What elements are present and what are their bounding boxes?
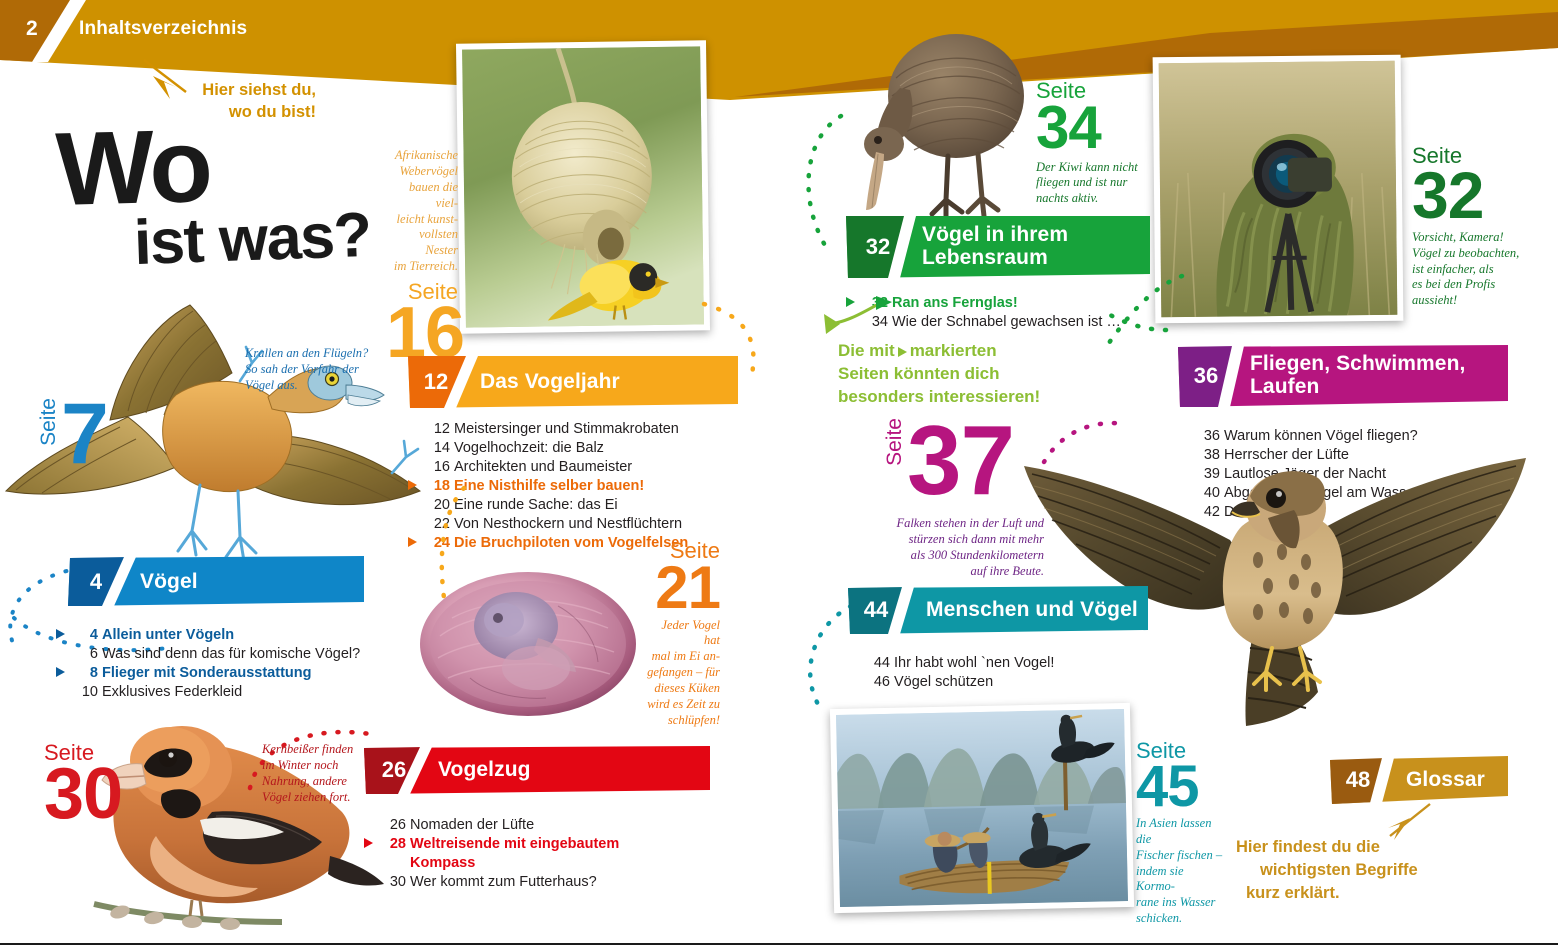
section-banner[interactable]: 36 Fliegen, Schwimmen, Laufen [1178,345,1508,407]
toc-text: Weltreisende mit eingebautem Kompass [410,836,619,871]
page-title: Wo ist was? [56,126,371,268]
toc-item-highlighted[interactable]: 32Ran ans Fernglas! [846,294,1150,313]
caption-text: Kernbeißer finden im Winter noch Nahrung… [262,742,370,806]
toc-item[interactable]: 36Warum können Vögel fliegen? [1178,427,1508,446]
section-title: Das Vogeljahr [480,356,620,408]
toc-item[interactable]: 22Von Nesthockern und Nestflüchtern [408,515,738,534]
caption-text: Krallen an den Flügeln? So sah der Vorfa… [245,346,390,394]
photo-embryo-egg [418,566,638,721]
toc-page: 26 [382,816,406,835]
toc-item[interactable]: 12Meistersinger und Stimmakrobaten [408,420,738,439]
caption-text: In Asien lassen die Fischer fischen – in… [1136,816,1224,927]
toc-item-highlighted[interactable]: 4Allein unter Vögeln [56,626,364,645]
section-title: Menschen und Vögel [926,586,1138,634]
photographer-artwork [1159,61,1398,317]
toc-item[interactable]: 10Exklusives Federkleid [56,683,364,702]
legend-line-1: Die mitmarkierten [838,340,1068,363]
toc-item[interactable]: 26Nomaden der Lüfte [364,816,710,835]
toc-page: 14 [426,439,450,458]
weaver-nest-artwork [462,46,704,327]
triangle-marker-icon [408,537,417,547]
toc-item[interactable]: 44Ihr habt wohl `nen Vogel! [848,654,1148,673]
toc-text: Was sind denn das für komische Vögel? [102,646,360,662]
toc-text: Wer kommt zum Futterhaus? [410,874,597,890]
toc-item[interactable]: 16Architekten und Baumeister [408,458,738,477]
section-menschen[interactable]: 44 Menschen und Vögel 44Ihr habt wohl `n… [848,586,1148,692]
toc-page: 32 [864,294,888,313]
toc-page: 12 [426,420,450,439]
section-number: 32 [850,216,906,278]
page-marker-seite-16: Afrikanische Webervögel bauen die viel- … [386,148,458,365]
toc-text: Vögel schützen [894,674,993,690]
toc-text: Meistersinger und Stimmakrobaten [454,421,679,437]
toc-text: Architekten und Baumeister [454,459,632,475]
toc-text: Eine Nisthilfe selber bauen! [454,478,644,494]
toc-item[interactable]: 34Wie der Schnabel gewachsen ist … [846,313,1150,332]
page-marker-seite-34: Seite 34 Der Kiwi kann nicht fliegen und… [1036,80,1154,207]
triangle-marker-icon [364,838,373,848]
toc-text: Flieger mit Sonderausstattung [102,665,311,681]
toc-page: 18 [426,477,450,496]
toc-text: Nomaden der Lüfte [410,817,534,833]
caption-text: Der Kiwi kann nicht fliegen und ist nur … [1036,160,1154,208]
section-glossar[interactable]: 48 Glossar [1330,756,1508,804]
section-vogeljahr[interactable]: 12 Das Vogeljahr 12Meistersinger und Sti… [408,356,738,553]
section-vogelzug[interactable]: 26 Vogelzug 26Nomaden der Lüfte 28Weltre… [364,746,710,892]
toc-page: 38 [1196,446,1220,465]
toc-text: Vogelhochzeit: die Balz [454,440,604,456]
page-marker-seite-30: Seite 30 [44,742,122,826]
seite-number: 45 [1136,762,1224,812]
toc-page: 46 [866,673,890,692]
seite-label: Seite [884,418,905,466]
legend-before: Die mit [838,341,895,360]
section-banner[interactable]: 48 Glossar [1330,756,1508,804]
toc-page: 42 [1196,503,1220,522]
caption-seite-37: Falken stehen in der Luft und stürzen si… [884,516,1044,580]
page-marker-seite-7: Seite 7 [38,398,108,472]
section-banner[interactable]: 12 Das Vogeljahr [408,356,738,408]
seite-number: 37 [907,418,1014,502]
callout-line-1: Hier siehst du, [168,80,316,102]
toc-item[interactable]: 42Da geht was! [1178,503,1508,522]
legend-middle: markierten [910,341,997,360]
section-banner[interactable]: 32 Vögel in ihrem Lebensraum [846,216,1150,278]
toc-page: 34 [864,313,888,332]
toc-item[interactable]: 6Was sind denn das für komische Vögel? [56,645,364,664]
seite-number: 21 [644,562,720,614]
section-banner[interactable]: 26 Vogelzug [364,746,710,798]
section-number: 26 [366,746,422,794]
page-marker-seite-45: Seite 45 In Asien lassen die Fischer fis… [1136,740,1224,927]
triangle-marker-icon [56,667,65,677]
toc-page: 22 [426,515,450,534]
section-title: Fliegen, Schwimmen, Laufen [1250,345,1465,407]
toc-text: Da geht was! [1224,504,1309,520]
toc-text: Herrscher der Lüfte [1224,447,1349,463]
seite-number: 32 [1412,167,1538,224]
toc-item[interactable]: 38Herrscher der Lüfte [1178,446,1508,465]
toc-page: 30 [382,873,406,892]
glossary-line-2: wichtigsten Begriffe [1236,859,1436,882]
caption-text: Vorsicht, Kamera! Vögel zu beobachten, i… [1412,230,1538,309]
section-number: 48 [1330,756,1386,804]
page-marker-seite-32: Seite 32 Vorsicht, Kamera! Vögel zu beob… [1412,145,1538,309]
toc-list-vogeljahr: 12Meistersinger und Stimmakrobaten 14Vog… [408,420,738,553]
section-title: Vögel [140,556,198,608]
toc-page: 36 [1196,427,1220,446]
section-title: Glossar [1406,756,1485,804]
caption-text: Jeder Vogel hat mal im Ei an- gefangen –… [644,618,720,729]
triangle-marker-icon [846,297,855,307]
triangle-marker-icon [898,347,907,357]
section-voegel[interactable]: 4 Vögel 4Allein unter Vögeln 6Was sind d… [56,556,364,702]
toc-item-highlighted[interactable]: 8Flieger mit Sonderausstattung [56,664,364,683]
page-title-line-2: ist was? [133,207,371,272]
toc-page: 24 [426,534,450,553]
glossary-line-1: Hier findest du die [1236,836,1436,859]
toc-text: Allein unter Vögeln [102,627,234,643]
toc-text: Wie der Schnabel gewachsen ist … [892,314,1121,330]
toc-page: 40 [1196,484,1220,503]
toc-item-highlighted[interactable]: 18Eine Nisthilfe selber bauen! [408,477,738,496]
toc-page: 16 [426,458,450,477]
triangle-marker-icon [408,480,417,490]
section-number: 36 [1178,345,1234,407]
toc-page: 10 [74,683,98,702]
toc-page: 8 [74,664,98,683]
toc-item-highlighted[interactable]: 28Weltreisende mit eingebautem Kompass [364,835,646,873]
section-banner[interactable]: 44 Menschen und Vögel [848,586,1148,638]
toc-text: Eine runde Sache: das Ei [454,497,618,513]
header-title: Inhaltsverzeichnis [79,18,247,40]
caption-seite-30: Kernbeißer finden im Winter noch Nahrung… [262,742,370,806]
toc-page: 20 [426,496,450,515]
glossary-note: Hier findest du die wichtigsten Begriffe… [1236,836,1436,904]
section-banner[interactable]: 4 Vögel [56,556,364,608]
dotted-arc-magenta [1040,418,1130,488]
toc-item[interactable]: 39Lautlose Jäger der Nacht [1178,465,1508,484]
legend-note: Die mitmarkierten Seiten könnten dich be… [838,340,1068,409]
embryo-egg-artwork [418,566,638,721]
toc-text: Ihr habt wohl `nen Vogel! [894,655,1054,671]
seite-number: 34 [1036,102,1154,154]
caption-text: Falken stehen in der Luft und stürzen si… [884,516,1044,580]
page-marker-seite-21: Seite 21 Jeder Vogel hat mal im Ei an- g… [644,540,720,729]
toc-item[interactable]: 30Wer kommt zum Futterhaus? [364,873,710,892]
toc-item[interactable]: 40Abgetaucht! Vögel am Wasser [1178,484,1508,503]
photo-cormorant-fisher [830,703,1134,913]
toc-page: 44 [866,654,890,673]
caption-text: Afrikanische Webervögel bauen die viel- … [386,148,458,275]
legend-line-2: Seiten könnten dich [838,363,1068,386]
page-title-line-1: Wo [55,124,211,213]
section-number: 4 [68,556,124,608]
toc-page: 28 [382,835,406,854]
glossary-line-3: kurz erklärt. [1236,882,1436,905]
section-title: Vogelzug [438,746,531,794]
photo-photographer [1153,55,1404,324]
seite-number: 7 [61,398,108,472]
section-number: 12 [408,356,464,408]
header-page-number: 2 [26,17,38,41]
seite-label: Seite [38,398,59,446]
toc-page: 4 [74,626,98,645]
section-lebensraum[interactable]: 32 Vögel in ihrem Lebensraum 32Ran ans F… [846,216,1150,332]
toc-item[interactable]: 14Vogelhochzeit: die Balz [408,439,738,458]
toc-text: Warum können Vögel fliegen? [1224,428,1418,444]
toc-page: 39 [1196,465,1220,484]
section-number: 44 [848,586,904,634]
toc-item[interactable]: 46Vögel schützen [848,673,1148,692]
toc-text: Abgetaucht! Vögel am Wasser [1224,485,1419,501]
toc-item[interactable]: 20Eine runde Sache: das Ei [408,496,738,515]
section-fliegen[interactable]: 36 Fliegen, Schwimmen, Laufen 36Warum kö… [1178,345,1508,522]
caption-seite-7: Krallen an den Flügeln? So sah der Vorfa… [245,346,390,394]
toc-text: Ran ans Fernglas! [892,295,1018,311]
toc-text: Exklusives Federkleid [102,684,242,700]
toc-text: Lautlose Jäger der Nacht [1224,466,1386,482]
cormorant-fisher-artwork [836,709,1128,907]
section-title: Vögel in ihrem Lebensraum [922,216,1068,278]
toc-text: Von Nesthockern und Nestflüchtern [454,516,682,532]
photo-weaver-nest [456,40,710,333]
seite-number: 30 [44,764,122,826]
toc-page: 6 [74,645,98,664]
triangle-marker-icon [56,629,65,639]
page-marker-seite-37: Seite 37 [884,418,1014,502]
